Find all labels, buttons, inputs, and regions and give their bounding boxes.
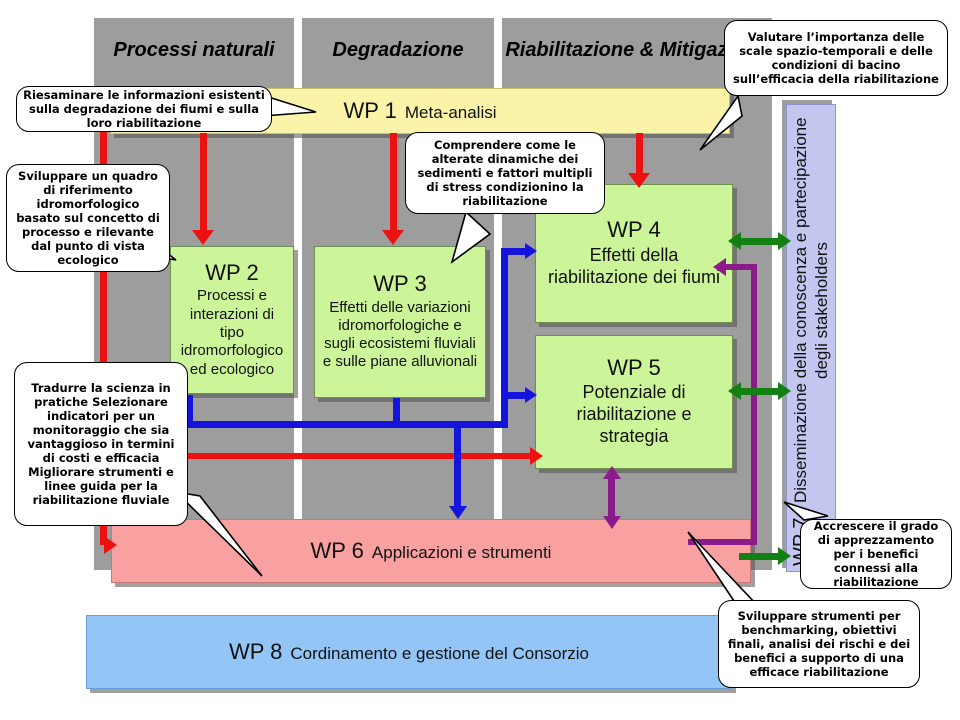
callout-wp3-text: Comprendere come le alterate dinamiche d… xyxy=(412,138,598,208)
callout-wp4[interactable]: Valutare l’importanza delle scale spazio… xyxy=(724,20,948,96)
arrow-red-wp1-wp3 xyxy=(382,230,404,245)
connector-purple-loop-top xyxy=(724,264,757,270)
column-header-processi-label: Processi naturali xyxy=(113,39,274,62)
arrow-purple-up-wp4 xyxy=(603,466,621,479)
arrow-red-wp1-wp2 xyxy=(192,230,214,245)
column-header-processi: Processi naturali xyxy=(94,22,294,78)
connector-purple-loop-bottom xyxy=(688,539,757,545)
connector-green-wp4-wp7 xyxy=(739,238,781,245)
wp3-name: Effetti delle variazioni idromorfologich… xyxy=(321,299,479,372)
arrow-blue-into-wp6 xyxy=(449,506,467,519)
wp1-name: Meta-analisi xyxy=(405,103,497,124)
wp5-name: Potenziale di riabilitazione e strategia xyxy=(544,382,724,448)
arrow-green-right-wp7-a xyxy=(778,232,791,250)
arrow-green-right-wp7-b xyxy=(778,382,791,400)
wp4-code: WP 4 xyxy=(607,218,660,242)
wp-box-wp7[interactable]: WP 7 Disseminazione della conoscenza e p… xyxy=(786,104,836,572)
wp5-code: WP 5 xyxy=(607,356,660,380)
connector-red-wp1-wp4 xyxy=(636,133,643,175)
wp-box-wp3[interactable]: WP 3 Effetti delle variazioni idromorfol… xyxy=(314,246,486,398)
callout-wp1-text: Riesaminare le informazioni esistenti su… xyxy=(23,88,265,130)
arrow-green-left-wp5 xyxy=(728,382,741,400)
callout-wp4-text: Valutare l’importanza delle scale spazio… xyxy=(731,30,941,86)
column-header-degradazione-label: Degradazione xyxy=(332,39,463,62)
callout-wp5[interactable]: Sviluppare strumenti per benchmarking, o… xyxy=(718,600,920,688)
connector-purple-wp4-wp5 xyxy=(608,475,615,520)
wp-box-wp8[interactable]: WP 8 Cordinamento e gestione del Consorz… xyxy=(86,615,732,689)
wp1-code: WP 1 xyxy=(343,99,396,123)
wp2-name: Processi e interazioni di tipo idromorfo… xyxy=(177,287,287,378)
callout-wp3[interactable]: Comprendere come le alterate dinamiche d… xyxy=(405,132,605,214)
wp-box-wp5[interactable]: WP 5 Potenziale di riabilitazione e stra… xyxy=(535,335,733,469)
callout-wp7[interactable]: Accrescere il grado di apprezzamento per… xyxy=(800,519,952,589)
wp-box-wp2[interactable]: WP 2 Processi e interazioni di tipo idro… xyxy=(170,246,294,394)
wp3-code: WP 3 xyxy=(373,272,426,296)
wp8-code: WP 8 xyxy=(229,640,282,664)
connector-red-wp1-wp3 xyxy=(390,133,397,232)
arrow-red-wp1-wp4 xyxy=(628,173,650,188)
callout-wp7-text: Accrescere il grado di apprezzamento per… xyxy=(807,519,945,589)
connector-purple-loop-vertical xyxy=(751,264,757,545)
arrow-blue-into-wp4 xyxy=(525,243,537,259)
wp6-code: WP 6 xyxy=(311,539,364,563)
wp8-name: Cordinamento e gestione del Consorzio xyxy=(290,644,589,665)
arrow-red-into-wp5 xyxy=(530,447,543,465)
connector-red-wp1-wp2 xyxy=(200,133,207,232)
callout-wp5-text: Sviluppare strumenti per benchmarking, o… xyxy=(725,609,913,679)
diagram-canvas: Processi naturali Degradazione Riabilita… xyxy=(0,0,960,720)
wp-box-wp6[interactable]: WP 6 Applicazioni e strumenti xyxy=(111,519,751,583)
connector-blue-down-wp6 xyxy=(454,421,461,509)
wp2-code: WP 2 xyxy=(205,261,258,285)
arrow-green-right-wp7-c xyxy=(778,547,791,565)
arrow-red-left-into-wp6 xyxy=(104,536,117,554)
wp6-name: Applicazioni e strumenti xyxy=(372,543,552,564)
callout-wp2-text: Sviluppare un quadro di riferimento idro… xyxy=(13,169,163,267)
wp4-name: Effetti della riabilitazione dei fiumi xyxy=(544,245,724,289)
wp7-name: Disseminazione della conoscenza e partec… xyxy=(790,110,833,510)
callout-wp1[interactable]: Riesaminare le informazioni esistenti su… xyxy=(16,86,272,132)
connector-blue-riser-wp4 xyxy=(501,248,508,428)
callout-wp6[interactable]: Tradurre la scienza in pratiche Selezion… xyxy=(14,362,188,526)
connector-green-wp6-wp7 xyxy=(739,553,781,560)
column-header-degradazione: Degradazione xyxy=(302,22,494,78)
arrow-blue-into-wp5 xyxy=(525,387,537,403)
callout-wp6-text: Tradurre la scienza in pratiche Selezion… xyxy=(21,381,181,507)
arrow-green-left-wp4 xyxy=(728,232,741,250)
connector-green-wp5-wp7 xyxy=(739,388,781,395)
connector-red-horizontal-wp5 xyxy=(182,453,534,459)
arrow-purple-into-wp4 xyxy=(713,258,726,276)
callout-wp2[interactable]: Sviluppare un quadro di riferimento idro… xyxy=(6,164,170,272)
arrow-purple-down-wp5 xyxy=(603,516,621,529)
